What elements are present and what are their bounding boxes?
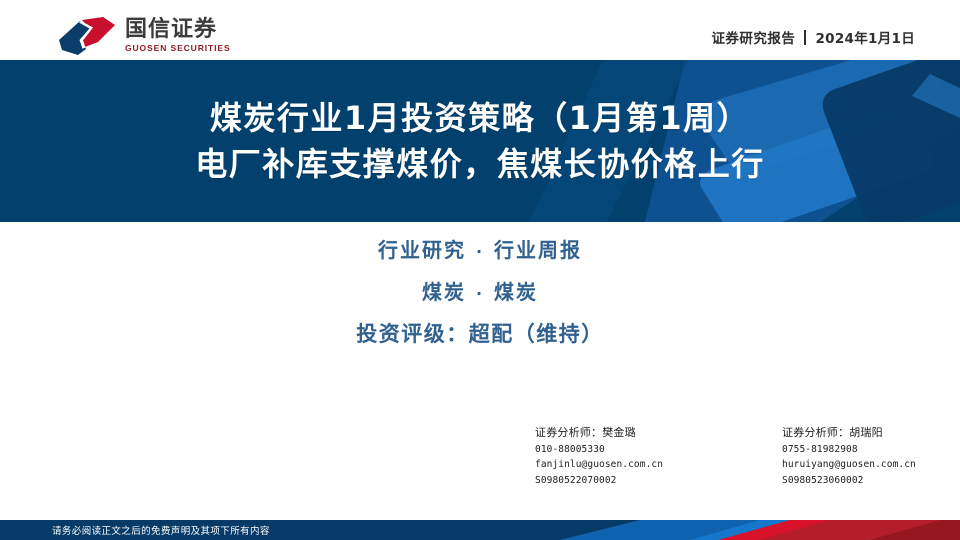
brand-logo-text: 国信证券 GUOSEN SECURITIES [125,17,231,53]
analyst-email-1[interactable]: fanjinlu@guosen.com.cn [535,457,708,472]
brand-name-cn: 国信证券 [125,18,231,41]
banner-title-group: 煤炭行业1月投资策略（1月第1周） 电厂补库支撑煤价，焦煤长协价格上行 [0,60,960,222]
report-cover-page: 国信证券 GUOSEN SECURITIES 证券研究报告 2024年1月1日 [0,0,960,540]
classification-line-research: 行业研究·行业周报 [0,240,960,260]
separator-dot-2: · [476,286,484,302]
report-date: 2024年1月1日 [815,27,915,47]
footer-disclaimer: 请务必阅读正文之后的免费声明及其项下所有内容 [52,520,270,540]
brand-name-en: GUOSEN SECURITIES [125,43,231,53]
analyst-phone-2: 0755-81982908 [782,442,955,457]
header-meta: 证券研究报告 2024年1月1日 [711,27,915,47]
classification-line-sector: 煤炭·煤炭 [0,282,960,302]
report-type-label: 证券研究报告 [711,27,795,47]
analyst-block-2: 证券分析师：胡瑞阳 0755-81982908 huruiyang@guosen… [782,424,955,488]
research-category: 行业研究 [378,238,466,262]
report-classification: 行业研究·行业周报 煤炭·煤炭 投资评级：超配（维持） [0,240,960,345]
title-banner: 煤炭行业1月投资策略（1月第1周） 电厂补库支撑煤价，焦煤长协价格上行 [0,60,960,222]
investment-rating: 投资评级：超配（维持） [0,324,960,345]
separator-dot-1: · [476,244,484,260]
page-header: 国信证券 GUOSEN SECURITIES 证券研究报告 2024年1月1日 [0,0,960,60]
report-title-line-1: 煤炭行业1月投资策略（1月第1周） [210,97,750,139]
analyst-name-1: 证券分析师：樊金璐 [535,424,708,442]
report-title-line-2: 电厂补库支撑煤价，焦煤长协价格上行 [195,143,765,185]
analyst-name-2: 证券分析师：胡瑞阳 [782,424,955,442]
sector-subname: 煤炭 [494,280,538,304]
analyst-email-2[interactable]: huruiyang@guosen.com.cn [782,457,955,472]
analyst-phone-1: 010-88005330 [535,442,708,457]
analyst-license-1: S0980522070002 [535,473,708,488]
analyst-block-1: 证券分析师：樊金璐 010-88005330 fanjinlu@guosen.c… [535,424,708,488]
page-footer: 请务必阅读正文之后的免费声明及其项下所有内容 [0,520,960,540]
sector-name: 煤炭 [422,280,466,304]
brand-logo: 国信证券 GUOSEN SECURITIES [58,14,231,56]
research-subcategory: 行业周报 [494,238,582,262]
analyst-license-2: S0980523060002 [782,473,955,488]
analyst-contacts: 证券分析师：樊金璐 010-88005330 fanjinlu@guosen.c… [535,424,955,488]
guosen-logo-icon [58,14,116,56]
header-divider [804,30,806,45]
